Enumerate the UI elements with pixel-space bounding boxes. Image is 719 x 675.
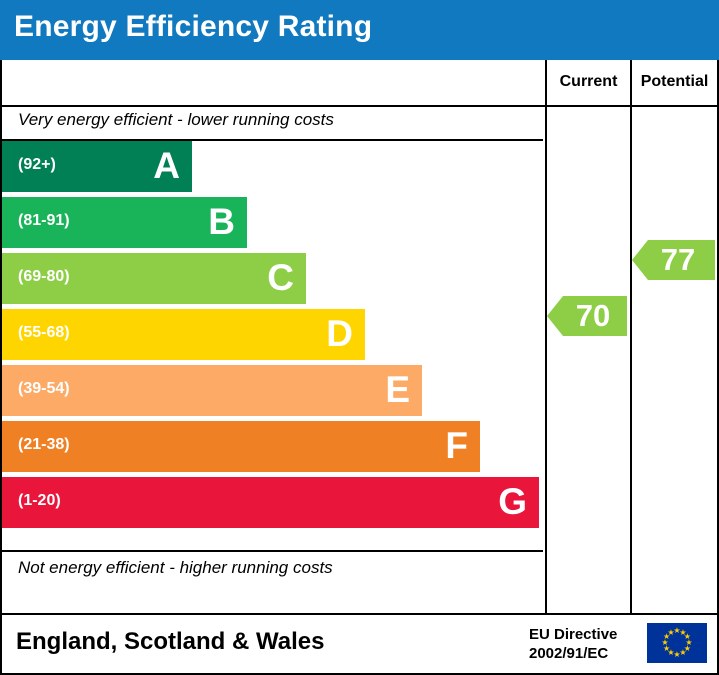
chart-footer: England, Scotland & Wales EU Directive 2…: [0, 615, 719, 675]
caption-bottom: Not energy efficient - higher running co…: [18, 558, 333, 578]
potential-rating-value: 77: [648, 232, 708, 288]
band-c: (69-80) C: [2, 253, 306, 304]
column-header-potential: Potential: [632, 73, 717, 91]
chart-title-bar: Energy Efficiency Rating: [0, 0, 719, 60]
band-b-range: (81-91): [18, 212, 70, 230]
band-c-range: (69-80): [18, 268, 70, 286]
band-a-range: (92+): [18, 156, 56, 174]
footer-region-label: England, Scotland & Wales: [16, 628, 324, 656]
column-divider-potential: [630, 60, 632, 613]
band-e: (39-54) E: [2, 365, 422, 416]
band-e-letter: E: [385, 367, 410, 413]
energy-efficiency-rating-chart: Energy Efficiency Rating Current Potenti…: [0, 0, 719, 675]
page-title: Energy Efficiency Rating: [14, 10, 372, 44]
caption-bottom-divider: [2, 550, 543, 552]
band-f-letter: F: [445, 423, 468, 469]
band-g-range: (1-20): [18, 492, 61, 510]
header-divider: [2, 105, 717, 107]
band-d-range: (55-68): [18, 324, 70, 342]
band-f: (21-38) F: [2, 421, 480, 472]
band-g: (1-20) G: [2, 477, 539, 528]
band-g-letter: G: [498, 479, 527, 525]
band-e-range: (39-54): [18, 380, 70, 398]
eu-flag-icon: ★★★★★★★★★★★★: [647, 623, 707, 663]
potential-rating-marker: 77: [632, 232, 715, 288]
column-header-current: Current: [547, 73, 630, 91]
band-d: (55-68) D: [2, 309, 365, 360]
chart-body: Current Potential Very energy efficient …: [0, 60, 719, 615]
footer-directive: EU Directive 2002/91/EC: [529, 625, 617, 663]
band-a-letter: A: [153, 143, 180, 189]
band-f-range: (21-38): [18, 436, 70, 454]
band-a: (92+) A: [2, 141, 192, 192]
rating-bands: (92+) A (81-91) B (69-80) C (55-68) D (3…: [2, 141, 543, 550]
current-rating-marker: 70: [547, 288, 627, 344]
band-c-letter: C: [267, 255, 294, 301]
footer-directive-line2: 2002/91/EC: [529, 644, 617, 663]
band-b: (81-91) B: [2, 197, 247, 248]
eu-star-icon: ★: [667, 629, 675, 637]
band-b-letter: B: [208, 199, 235, 245]
caption-top: Very energy efficient - lower running co…: [18, 110, 334, 130]
footer-directive-line1: EU Directive: [529, 625, 617, 644]
band-d-letter: D: [326, 311, 353, 357]
current-rating-value: 70: [563, 288, 623, 344]
